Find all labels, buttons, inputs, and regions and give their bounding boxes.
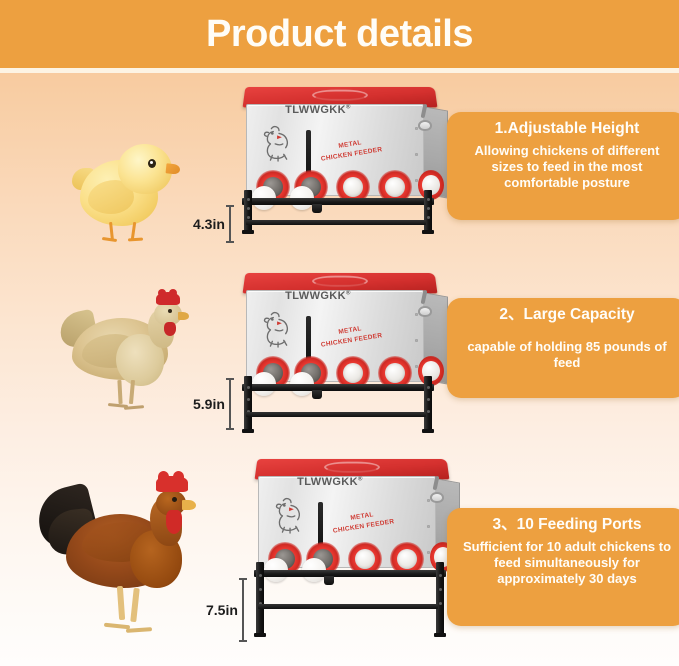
rooster-foot [126,627,152,633]
chick-head [118,144,172,194]
rooster-eye [172,497,177,502]
product-details-infographic: Product details TLWWGKK® [0,0,679,666]
chicken-logo-icon [258,308,300,348]
stand-foot [422,429,434,433]
feeder-brand-label: TLWWGKK® [258,104,378,116]
feeder-side-handle [418,306,432,317]
stand-foot [254,633,266,637]
callout-body: Allowing chickens of different sizes to … [457,143,677,192]
hen-image [56,290,196,418]
stand-bracket [312,204,322,213]
baby-chick-image [62,128,190,240]
callout-title: 2、Large Capacity [457,306,677,325]
feeder-unit-medium: TLWWGKK® METAL CHICKEN FEEDER [232,272,446,432]
feeder-rivet [415,153,418,156]
rooster-image [38,478,204,644]
dimension-label: 4.3in [193,216,225,232]
chick-beak [166,163,181,174]
feeder-rivet [415,339,418,342]
callout-feeding-ports: 3、10 Feeding Ports Sufficient for 10 adu… [447,508,679,626]
callout-title: 1.Adjustable Height [457,120,677,139]
rooster-leg [130,588,140,622]
hen-leg [129,380,135,404]
hen-leg [117,380,122,404]
rooster-beak [182,500,196,510]
chicken-logo-icon [258,122,300,162]
feeder-brand-label: TLWWGKK® [270,476,390,488]
rooster-leg [117,586,125,620]
dimension-marker-3: 7.5in [206,578,244,642]
dimension-label: 5.9in [193,396,225,412]
stand-top-rail [254,570,446,577]
chick-eye [148,159,156,168]
chick-foot [102,237,117,242]
feeder-side-handle [418,120,432,131]
feeder-rivet [427,525,430,528]
callout-body: Sufficient for 10 adult chickens to feed… [457,539,677,588]
stand-foot [434,633,446,637]
stand-brace [246,220,426,225]
dimension-marker-1: 4.3in [193,205,231,243]
header-divider [0,68,679,73]
hen-comb [156,292,180,305]
hen-foot [124,405,144,410]
feeder-side-handle [430,492,444,503]
dimension-label: 7.5in [206,602,238,618]
chick-foot [128,237,143,241]
callout-large-capacity: 2、Large Capacity capable of holding 85 p… [447,298,679,398]
callout-title: 3、10 Feeding Ports [457,516,677,535]
hen-beak [178,312,189,320]
stand-top-rail [242,198,434,205]
stand-leg [244,190,252,232]
callout-body: capable of holding 85 pounds of feed [457,339,677,372]
rooster-comb [156,476,188,492]
stand-leg [256,562,264,636]
chicken-logo-icon [270,494,312,534]
stand-top-rail [242,384,434,391]
hen-wattle [164,322,176,336]
stand-brace [246,412,426,417]
stand-foot [242,230,254,234]
dimension-marker-2: 5.9in [193,378,231,430]
feeder-unit-short: TLWWGKK® METAL CHICKEN FEEDER [232,86,446,236]
hen-eye [168,309,172,313]
stand-bracket [324,576,334,585]
page-title: Product details [206,13,473,56]
rooster-wattle [166,510,182,534]
callout-adjustable-height: 1.Adjustable Height Allowing chickens of… [447,112,679,220]
stand-leg [244,376,252,432]
stand-leg [436,562,444,636]
dimension-bar [242,578,244,642]
dimension-bar [229,378,231,430]
feeder-brand-label: TLWWGKK® [258,290,378,302]
stand-leg [424,190,432,232]
stand-brace [258,604,438,609]
stand-foot [422,230,434,234]
stand-foot [242,429,254,433]
dimension-bar [229,205,231,243]
stand-leg [424,376,432,432]
header-banner: Product details [0,0,679,68]
stand-bracket [312,390,322,399]
feeder-unit-tall: TLWWGKK® METAL CHICKEN FEEDER [244,458,458,636]
